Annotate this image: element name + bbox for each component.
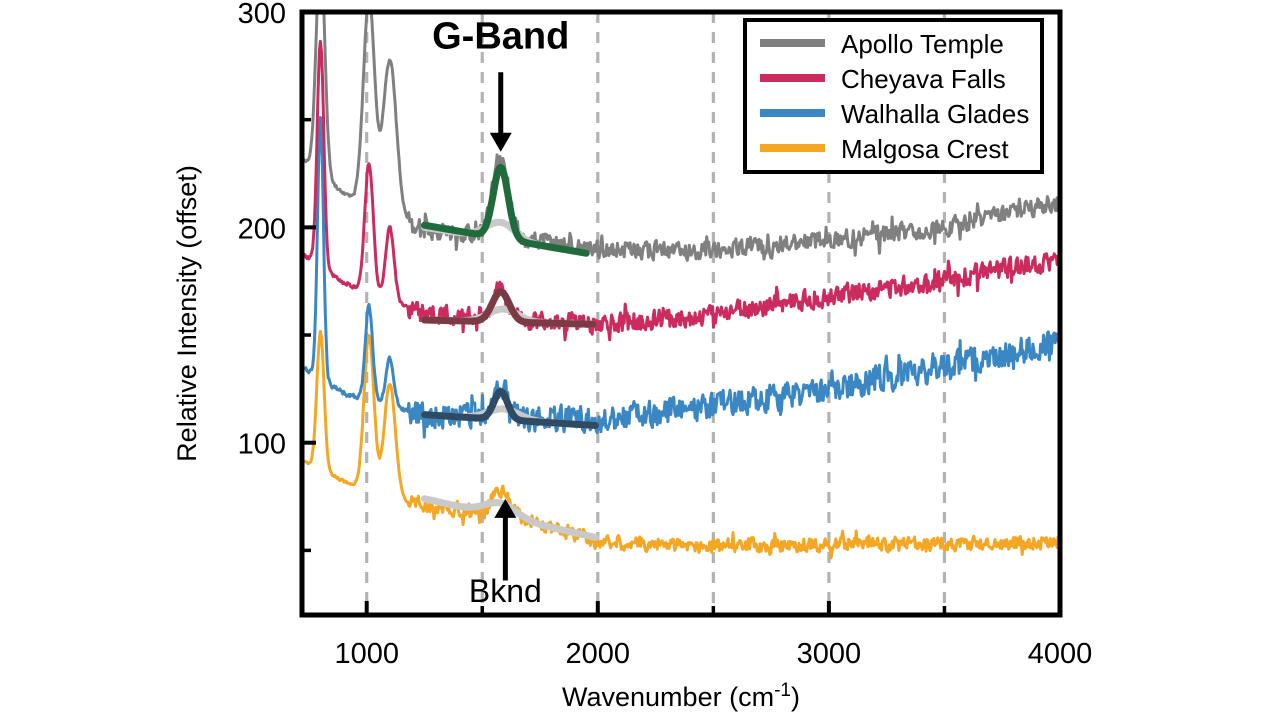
x-axis-title: Wavenumber (cm-1)	[562, 680, 800, 712]
legend: Apollo TempleCheyava FallsWalhalla Glade…	[745, 20, 1042, 172]
chart-svg: 1000200030004000100200300Wavenumber (cm-…	[0, 0, 1281, 717]
legend-label-cheyava-falls: Cheyava Falls	[841, 64, 1006, 94]
y-tick-label-100: 100	[238, 429, 286, 461]
y-tick-label-200: 200	[238, 213, 286, 245]
figure-root: 1000200030004000100200300Wavenumber (cm-…	[0, 0, 1281, 717]
x-tick-label-3000: 3000	[797, 638, 862, 670]
mask-left	[0, 0, 302, 717]
annotation-g-band-label: G-Band	[432, 16, 569, 58]
raman-spectra-chart: 1000200030004000100200300Wavenumber (cm-…	[0, 0, 1281, 717]
mask-right	[1061, 0, 1281, 717]
x-tick-label-2000: 2000	[566, 638, 631, 670]
legend-label-walhalla-glades: Walhalla Glades	[841, 99, 1029, 129]
legend-label-apollo-temple: Apollo Temple	[841, 29, 1004, 59]
y-tick-label-300: 300	[238, 0, 286, 30]
legend-label-malgosa-crest: Malgosa Crest	[841, 134, 1009, 164]
x-tick-label-4000: 4000	[1028, 638, 1093, 670]
y-axis-title: Relative Intensity (offset)	[172, 165, 202, 462]
x-tick-label-1000: 1000	[334, 638, 399, 670]
